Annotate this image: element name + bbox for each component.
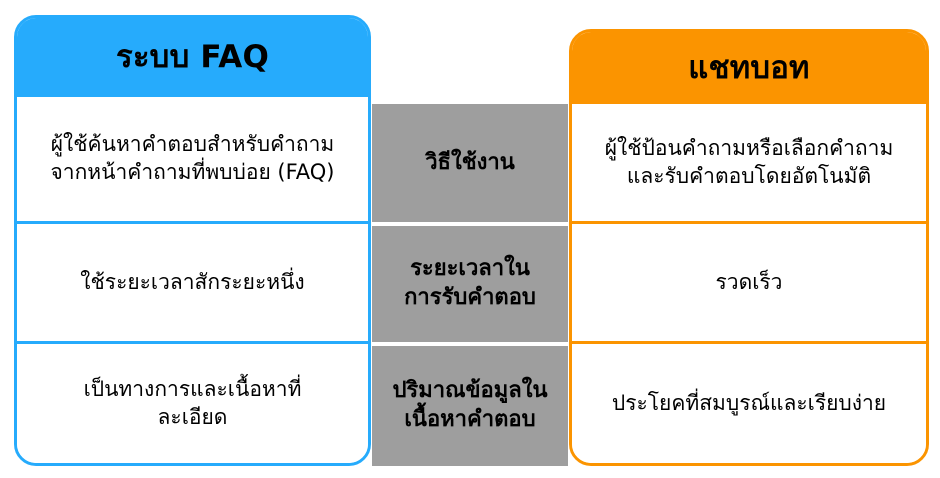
- middle-criteria-column: วิธีใช้งาน ระยะเวลาใน การรับคำตอบ ปริมาณ…: [372, 104, 568, 466]
- criteria-cell-usage: วิธีใช้งาน: [372, 104, 568, 222]
- criteria-cell-response-time: ระยะเวลาใน การรับคำตอบ: [372, 226, 568, 342]
- right-cell-usage-line1: ผู้ใช้ป้อนคำถามหรือเลือกคำถาม: [605, 135, 894, 163]
- right-cell-content-volume-text: ประโยคที่สมบูรณ์และเรียบง่าย: [612, 390, 886, 418]
- right-cell-usage-text: ผู้ใช้ป้อนคำถามหรือเลือกคำถาม และรับคำตอ…: [605, 135, 894, 191]
- left-cell-response-time-text: ใช้ระยะเวลาสักระยะหนึ่ง: [80, 269, 304, 297]
- right-column-header-label: แชทบอท: [688, 51, 809, 85]
- left-cell-usage-line1: ผู้ใช้ค้นหาคำตอบสำหรับคำถาม: [51, 131, 335, 159]
- left-cell-content-volume-line1: เป็นทางการและเนื้อหาที่: [84, 376, 302, 404]
- criteria-cell-response-time-line1: ระยะเวลาใน: [404, 255, 536, 284]
- left-cell-usage-line2: จากหน้าคำถามที่พบบ่อย (FAQ): [51, 159, 335, 187]
- right-cell-usage: ผู้ใช้ป้อนคำถามหรือเลือกคำถาม และรับคำตอ…: [572, 104, 926, 224]
- right-column-header: แชทบอท: [572, 32, 926, 104]
- left-column-body: ผู้ใช้ค้นหาคำตอบสำหรับคำถาม จากหน้าคำถาม…: [17, 97, 368, 463]
- left-cell-usage-text: ผู้ใช้ค้นหาคำตอบสำหรับคำถาม จากหน้าคำถาม…: [51, 131, 335, 187]
- left-column-header: ระบบ FAQ: [17, 18, 368, 97]
- left-cell-response-time-line1: ใช้ระยะเวลาสักระยะหนึ่ง: [80, 269, 304, 297]
- criteria-cell-response-time-text: ระยะเวลาใน การรับคำตอบ: [404, 255, 536, 312]
- left-cell-content-volume-line2: ละเอียด: [84, 404, 302, 432]
- criteria-cell-usage-line1: วิธีใช้งาน: [425, 149, 515, 178]
- right-cell-response-time-line1: รวดเร็ว: [716, 269, 783, 297]
- criteria-cell-response-time-line2: การรับคำตอบ: [404, 284, 536, 313]
- criteria-cell-content-volume-text: ปริมาณข้อมูลใน เนื้อหาคำตอบ: [392, 377, 547, 434]
- right-cell-usage-line2: และรับคำตอบโดยอัตโนมัติ: [605, 163, 894, 191]
- right-column-body: ผู้ใช้ป้อนคำถามหรือเลือกคำถาม และรับคำตอ…: [572, 104, 926, 463]
- criteria-cell-content-volume-line1: ปริมาณข้อมูลใน: [392, 377, 547, 406]
- right-cell-response-time-text: รวดเร็ว: [716, 269, 783, 297]
- left-cell-content-volume: เป็นทางการและเนื้อหาที่ ละเอียด: [17, 344, 368, 463]
- comparison-figure: ระบบ FAQ ผู้ใช้ค้นหาคำตอบสำหรับคำถาม จาก…: [0, 0, 940, 478]
- left-cell-content-volume-text: เป็นทางการและเนื้อหาที่ ละเอียด: [84, 376, 302, 432]
- left-cell-response-time: ใช้ระยะเวลาสักระยะหนึ่ง: [17, 224, 368, 344]
- criteria-cell-content-volume: ปริมาณข้อมูลใน เนื้อหาคำตอบ: [372, 346, 568, 466]
- left-cell-usage: ผู้ใช้ค้นหาคำตอบสำหรับคำถาม จากหน้าคำถาม…: [17, 97, 368, 224]
- criteria-cell-usage-text: วิธีใช้งาน: [425, 149, 515, 178]
- right-cell-content-volume: ประโยคที่สมบูรณ์และเรียบง่าย: [572, 344, 926, 463]
- left-column-panel: ระบบ FAQ ผู้ใช้ค้นหาคำตอบสำหรับคำถาม จาก…: [14, 15, 371, 466]
- criteria-cell-content-volume-line2: เนื้อหาคำตอบ: [392, 406, 547, 435]
- left-column-header-label: ระบบ FAQ: [116, 40, 269, 74]
- right-cell-content-volume-line1: ประโยคที่สมบูรณ์และเรียบง่าย: [612, 390, 886, 418]
- right-cell-response-time: รวดเร็ว: [572, 224, 926, 344]
- right-column-panel: แชทบอท ผู้ใช้ป้อนคำถามหรือเลือกคำถาม และ…: [569, 29, 929, 466]
